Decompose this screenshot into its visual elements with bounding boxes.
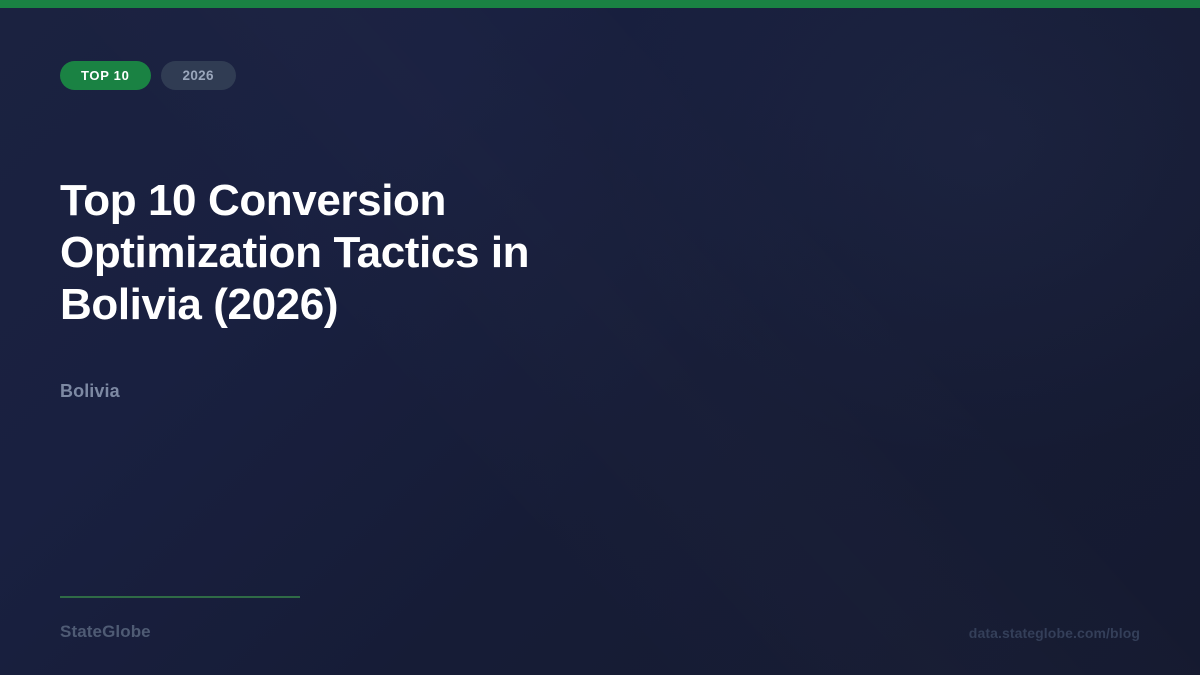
footer-divider bbox=[60, 596, 300, 598]
card-content: TOP 10 2026 Top 10 Conversion Optimizati… bbox=[0, 0, 1200, 675]
source-url: data.stateglobe.com/blog bbox=[969, 625, 1140, 641]
hero-subtitle: Bolivia bbox=[60, 381, 120, 402]
page-title: Top 10 Conversion Optimization Tactics i… bbox=[60, 175, 620, 331]
badge-group: TOP 10 2026 bbox=[60, 61, 236, 90]
social-share-card: TOP 10 2026 Top 10 Conversion Optimizati… bbox=[0, 0, 1200, 675]
badge-top-10[interactable]: TOP 10 bbox=[60, 61, 151, 90]
brand-name: StateGlobe bbox=[60, 622, 151, 642]
badge-year[interactable]: 2026 bbox=[161, 61, 236, 90]
